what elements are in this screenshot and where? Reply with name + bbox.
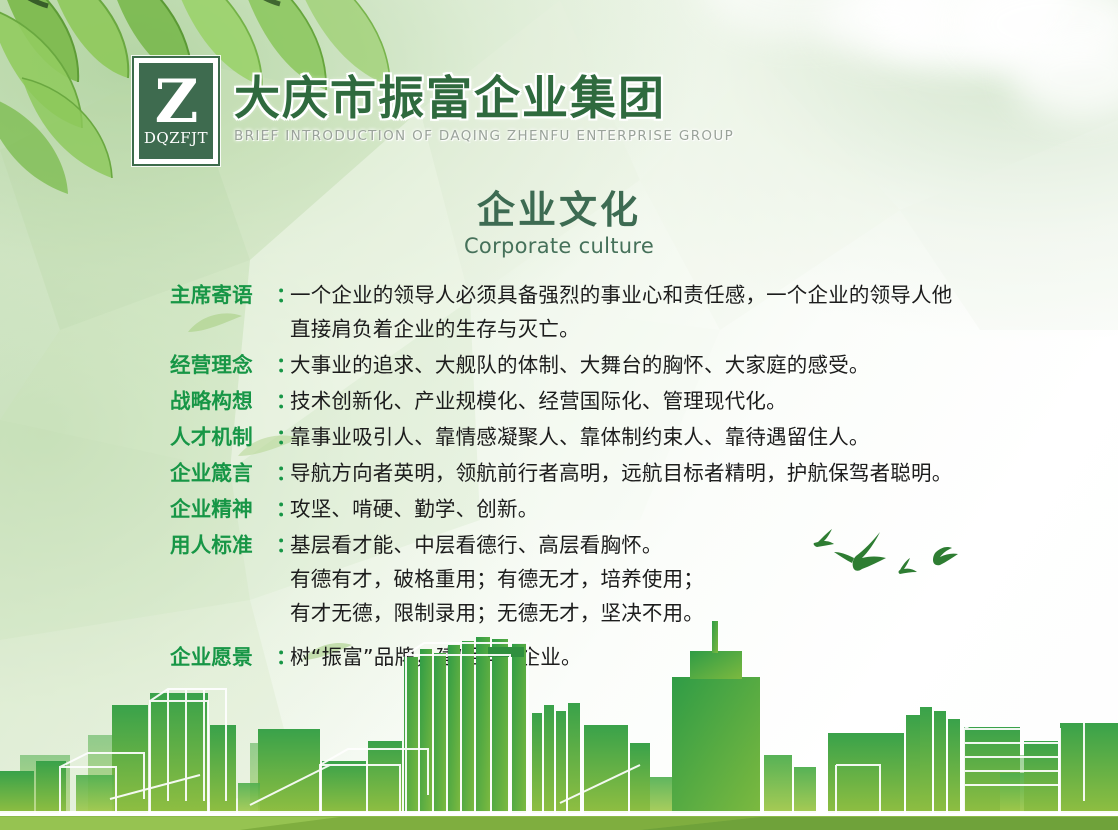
culture-row-line: 大事业的追求、大舰队的体制、大舞台的胸怀、大家庭的感受。 bbox=[290, 348, 1050, 382]
culture-row-line: 基层看才能、中层看德行、高层看胸怀。 bbox=[290, 528, 1050, 562]
culture-row-body: 技术创新化、产业规模化、经营国际化、管理现代化。 bbox=[290, 384, 1050, 418]
poster-canvas: Z DQZFJT 大庆市振富企业集团 BRIEF INTRODUCTION OF… bbox=[0, 0, 1118, 830]
logo-inner-plate: Z DQZFJT bbox=[139, 63, 213, 159]
culture-row: 战略构想：技术创新化、产业规模化、经营国际化、管理现代化。 bbox=[170, 384, 1050, 418]
logo-letter: Z bbox=[155, 77, 198, 127]
section-title-cn: 企业文化 bbox=[0, 190, 1118, 232]
culture-row: 经营理念：大事业的追求、大舰队的体制、大舞台的胸怀、大家庭的感受。 bbox=[170, 348, 1050, 382]
culture-row-label: 人才机制： bbox=[170, 420, 290, 454]
culture-row: 企业愿景：树“振富”品牌，建“百年”企业。 bbox=[170, 640, 1050, 674]
culture-row-label-text: 经营理念 bbox=[170, 348, 274, 382]
culture-row-line: 导航方向者英明，领航前行者高明，远航目标者精明，护航保驾者聪明。 bbox=[290, 456, 1050, 490]
logo-abbreviation: DQZFJT bbox=[144, 129, 208, 147]
culture-row-label-text: 企业箴言 bbox=[170, 456, 274, 490]
culture-row-label-text: 人才机制 bbox=[170, 420, 274, 454]
culture-row-label: 战略构想： bbox=[170, 384, 290, 418]
section-heading: 企业文化 Corporate culture bbox=[0, 190, 1118, 258]
company-logo: Z DQZFJT bbox=[132, 56, 220, 166]
culture-row-label: 主席寄语： bbox=[170, 278, 290, 312]
culture-row-body: 大事业的追求、大舰队的体制、大舞台的胸怀、大家庭的感受。 bbox=[290, 348, 1050, 382]
culture-list: 主席寄语：一个企业的领导人必须具备强烈的事业心和责任感，一个企业的领导人他直接肩… bbox=[170, 278, 1050, 676]
culture-row-line: 有才无德，限制录用；无德无才，坚决不用。 bbox=[290, 596, 1050, 630]
culture-row-line: 有德有才，破格重用；有德无才，培养使用； bbox=[290, 562, 1050, 596]
culture-row-line: 攻坚、啃硬、勤学、创新。 bbox=[290, 492, 1050, 526]
culture-row: 人才机制：靠事业吸引人、靠情感凝聚人、靠体制约束人、靠待遇留住人。 bbox=[170, 420, 1050, 454]
brand-titles: 大庆市振富企业集团 BRIEF INTRODUCTION OF DAQING Z… bbox=[234, 56, 734, 144]
culture-row-body: 一个企业的领导人必须具备强烈的事业心和责任感，一个企业的领导人他直接肩负着企业的… bbox=[290, 278, 1050, 346]
culture-row: 用人标准：基层看才能、中层看德行、高层看胸怀。有德有才，破格重用；有德无才，培养… bbox=[170, 528, 1050, 630]
culture-row: 企业箴言：导航方向者英明，领航前行者高明，远航目标者精明，护航保驾者聪明。 bbox=[170, 456, 1050, 490]
culture-row-body: 靠事业吸引人、靠情感凝聚人、靠体制约束人、靠待遇留住人。 bbox=[290, 420, 1050, 454]
culture-row-label-text: 企业精神 bbox=[170, 492, 274, 526]
culture-row-line: 直接肩负着企业的生存与灭亡。 bbox=[290, 312, 1050, 346]
culture-row-label: 经营理念： bbox=[170, 348, 290, 382]
culture-row-line: 技术创新化、产业规模化、经营国际化、管理现代化。 bbox=[290, 384, 1050, 418]
culture-row-body: 树“振富”品牌，建“百年”企业。 bbox=[290, 640, 1050, 674]
culture-row-body: 基层看才能、中层看德行、高层看胸怀。有德有才，破格重用；有德无才，培养使用；有才… bbox=[290, 528, 1050, 630]
section-title-en: Corporate culture bbox=[0, 234, 1118, 258]
culture-row-label-text: 战略构想 bbox=[170, 384, 274, 418]
culture-row-line: 一个企业的领导人必须具备强烈的事业心和责任感，一个企业的领导人他 bbox=[290, 278, 1050, 312]
brand-header: Z DQZFJT 大庆市振富企业集团 BRIEF INTRODUCTION OF… bbox=[132, 56, 734, 166]
culture-row-label-text: 企业愿景 bbox=[170, 640, 274, 674]
culture-row-body: 攻坚、啃硬、勤学、创新。 bbox=[290, 492, 1050, 526]
company-name: 大庆市振富企业集团 bbox=[234, 74, 734, 124]
culture-row-line: 靠事业吸引人、靠情感凝聚人、靠体制约束人、靠待遇留住人。 bbox=[290, 420, 1050, 454]
culture-row-label: 用人标准： bbox=[170, 528, 290, 562]
culture-row-body: 导航方向者英明，领航前行者高明，远航目标者精明，护航保驾者聪明。 bbox=[290, 456, 1050, 490]
company-tagline: BRIEF INTRODUCTION OF DAQING ZHENFU ENTE… bbox=[234, 128, 734, 144]
culture-row-line: 树“振富”品牌，建“百年”企业。 bbox=[290, 640, 1050, 674]
culture-row-label: 企业精神： bbox=[170, 492, 290, 526]
culture-row-label: 企业愿景： bbox=[170, 640, 290, 674]
culture-row-label: 企业箴言： bbox=[170, 456, 290, 490]
culture-row: 企业精神：攻坚、啃硬、勤学、创新。 bbox=[170, 492, 1050, 526]
culture-row-label-text: 用人标准 bbox=[170, 528, 274, 562]
culture-row: 主席寄语：一个企业的领导人必须具备强烈的事业心和责任感，一个企业的领导人他直接肩… bbox=[170, 278, 1050, 346]
culture-row-label-text: 主席寄语 bbox=[170, 278, 274, 312]
